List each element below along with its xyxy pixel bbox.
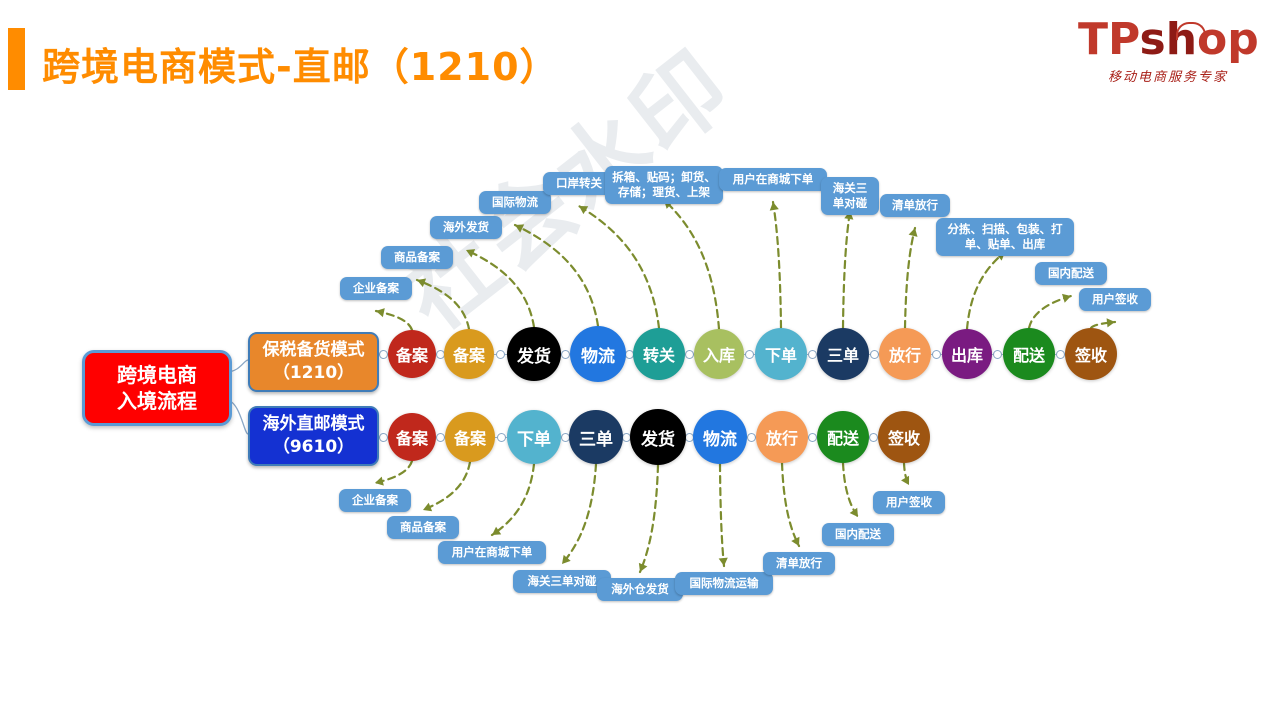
flow-1210-connector-dot-6 — [808, 350, 817, 359]
flow-1210-node-6[interactable]: 下单 — [755, 328, 807, 380]
flow-1210-label-8: 清单放行 — [880, 194, 950, 217]
flow-9610-node-3[interactable]: 三单 — [569, 410, 623, 464]
flow-9610-connector-dot-7 — [869, 433, 878, 442]
flow-9610-connector-dot-1 — [497, 433, 506, 442]
flow-1210-connector-dot-1 — [496, 350, 505, 359]
flow-1210-label-3: 国际物流 — [479, 191, 551, 214]
flow-1210-label-0: 企业备案 — [340, 277, 412, 300]
flow-9610-node-7[interactable]: 配送 — [817, 411, 869, 463]
flow-9610-label-2: 用户在商城下单 — [438, 541, 546, 564]
flow-9610-label-7: 国内配送 — [822, 523, 894, 546]
flow-9610-label-6: 清单放行 — [763, 552, 835, 575]
flow-1210-label-7: 海关三 单对碰 — [821, 177, 879, 215]
root-label: 跨境电商 入境流程 — [117, 362, 197, 414]
flow-1210-node-10[interactable]: 配送 — [1003, 328, 1055, 380]
flow-9610-node-1[interactable]: 备案 — [445, 412, 495, 462]
flow-1210-label-5: 拆箱、贴码；卸货、 存储；理货、上架 — [605, 166, 723, 204]
flow-1210-label-11: 用户签收 — [1079, 288, 1151, 311]
logo-s: s — [1140, 14, 1166, 65]
flow-1210-label-1: 商品备案 — [381, 246, 453, 269]
flow-9610-node-2[interactable]: 下单 — [507, 410, 561, 464]
mode-1210-label: 保税备货模式 （1210） — [263, 339, 365, 385]
mode-9610-label: 海外直邮模式 （9610） — [263, 413, 365, 459]
flow-1210-node-7[interactable]: 三单 — [817, 328, 869, 380]
root-node: 跨境电商 入境流程 — [82, 350, 232, 426]
flow-1210-connector-dot-9 — [993, 350, 1002, 359]
flow-9610-connector-dot-start — [379, 433, 388, 442]
flow-1210-label-9: 分拣、扫描、包装、打 单、贴单、出库 — [936, 218, 1074, 256]
flow-1210-label-2: 海外发货 — [430, 216, 502, 239]
flow-9610-label-4: 海外仓发货 — [597, 578, 683, 601]
flow-1210-connector-dot-2 — [561, 350, 570, 359]
flow-1210-node-5[interactable]: 入库 — [694, 329, 744, 379]
flow-1210-label-6: 用户在商城下单 — [719, 168, 827, 191]
flow-9610-node-4[interactable]: 发货 — [630, 409, 686, 465]
flow-1210-connector-dot-start — [379, 350, 388, 359]
flow-1210-connector-dot-7 — [870, 350, 879, 359]
flow-1210-node-11[interactable]: 签收 — [1065, 328, 1117, 380]
flow-1210-connector-dot-5 — [745, 350, 754, 359]
flow-1210-connector-dot-10 — [1056, 350, 1065, 359]
flow-9610-connector-dot-5 — [747, 433, 756, 442]
title-accent-bar — [8, 28, 25, 90]
flow-9610-node-8[interactable]: 签收 — [878, 411, 930, 463]
flow-9610-label-0: 企业备案 — [339, 489, 411, 512]
page-title: 跨境电商模式-直邮（1210） — [42, 36, 559, 91]
flow-9610-label-1: 商品备案 — [387, 516, 459, 539]
flow-1210-connector-dot-8 — [932, 350, 941, 359]
flow-1210-node-2[interactable]: 发货 — [507, 327, 561, 381]
flow-1210-node-9[interactable]: 出库 — [942, 329, 992, 379]
flow-9610-connector-dot-6 — [808, 433, 817, 442]
flow-1210-label-10: 国内配送 — [1035, 262, 1107, 285]
flow-9610-connector-dot-0 — [436, 433, 445, 442]
logo-subtitle: 移动电商服务专家 — [1078, 66, 1258, 85]
logo-op: op — [1197, 14, 1259, 65]
tpshop-logo: TPshop 移动电商服务专家 — [1078, 16, 1258, 102]
slide-canvas: 社会水印 跨境电商模式-直邮（1210） TPshop 移动电商服务专家 跨境电… — [0, 0, 1280, 720]
mode-box-1210[interactable]: 保税备货模式 （1210） — [248, 332, 379, 392]
flow-9610-label-5: 国际物流运输 — [675, 572, 773, 595]
mode-box-9610[interactable]: 海外直邮模式 （9610） — [248, 406, 379, 466]
shopping-bag-icon — [1176, 22, 1206, 40]
flow-9610-node-0[interactable]: 备案 — [388, 413, 436, 461]
flow-9610-node-5[interactable]: 物流 — [693, 410, 747, 464]
logo-tp: TP — [1078, 14, 1140, 65]
flow-1210-node-8[interactable]: 放行 — [879, 328, 931, 380]
flow-9610-label-8: 用户签收 — [873, 491, 945, 514]
logo-wordmark: TPshop — [1078, 16, 1258, 64]
flow-1210-node-1[interactable]: 备案 — [444, 329, 494, 379]
flow-1210-node-0[interactable]: 备案 — [388, 330, 436, 378]
flow-1210-connector-dot-4 — [685, 350, 694, 359]
flow-1210-node-4[interactable]: 转关 — [633, 328, 685, 380]
flow-1210-node-3[interactable]: 物流 — [570, 326, 626, 382]
flow-9610-node-6[interactable]: 放行 — [756, 411, 808, 463]
